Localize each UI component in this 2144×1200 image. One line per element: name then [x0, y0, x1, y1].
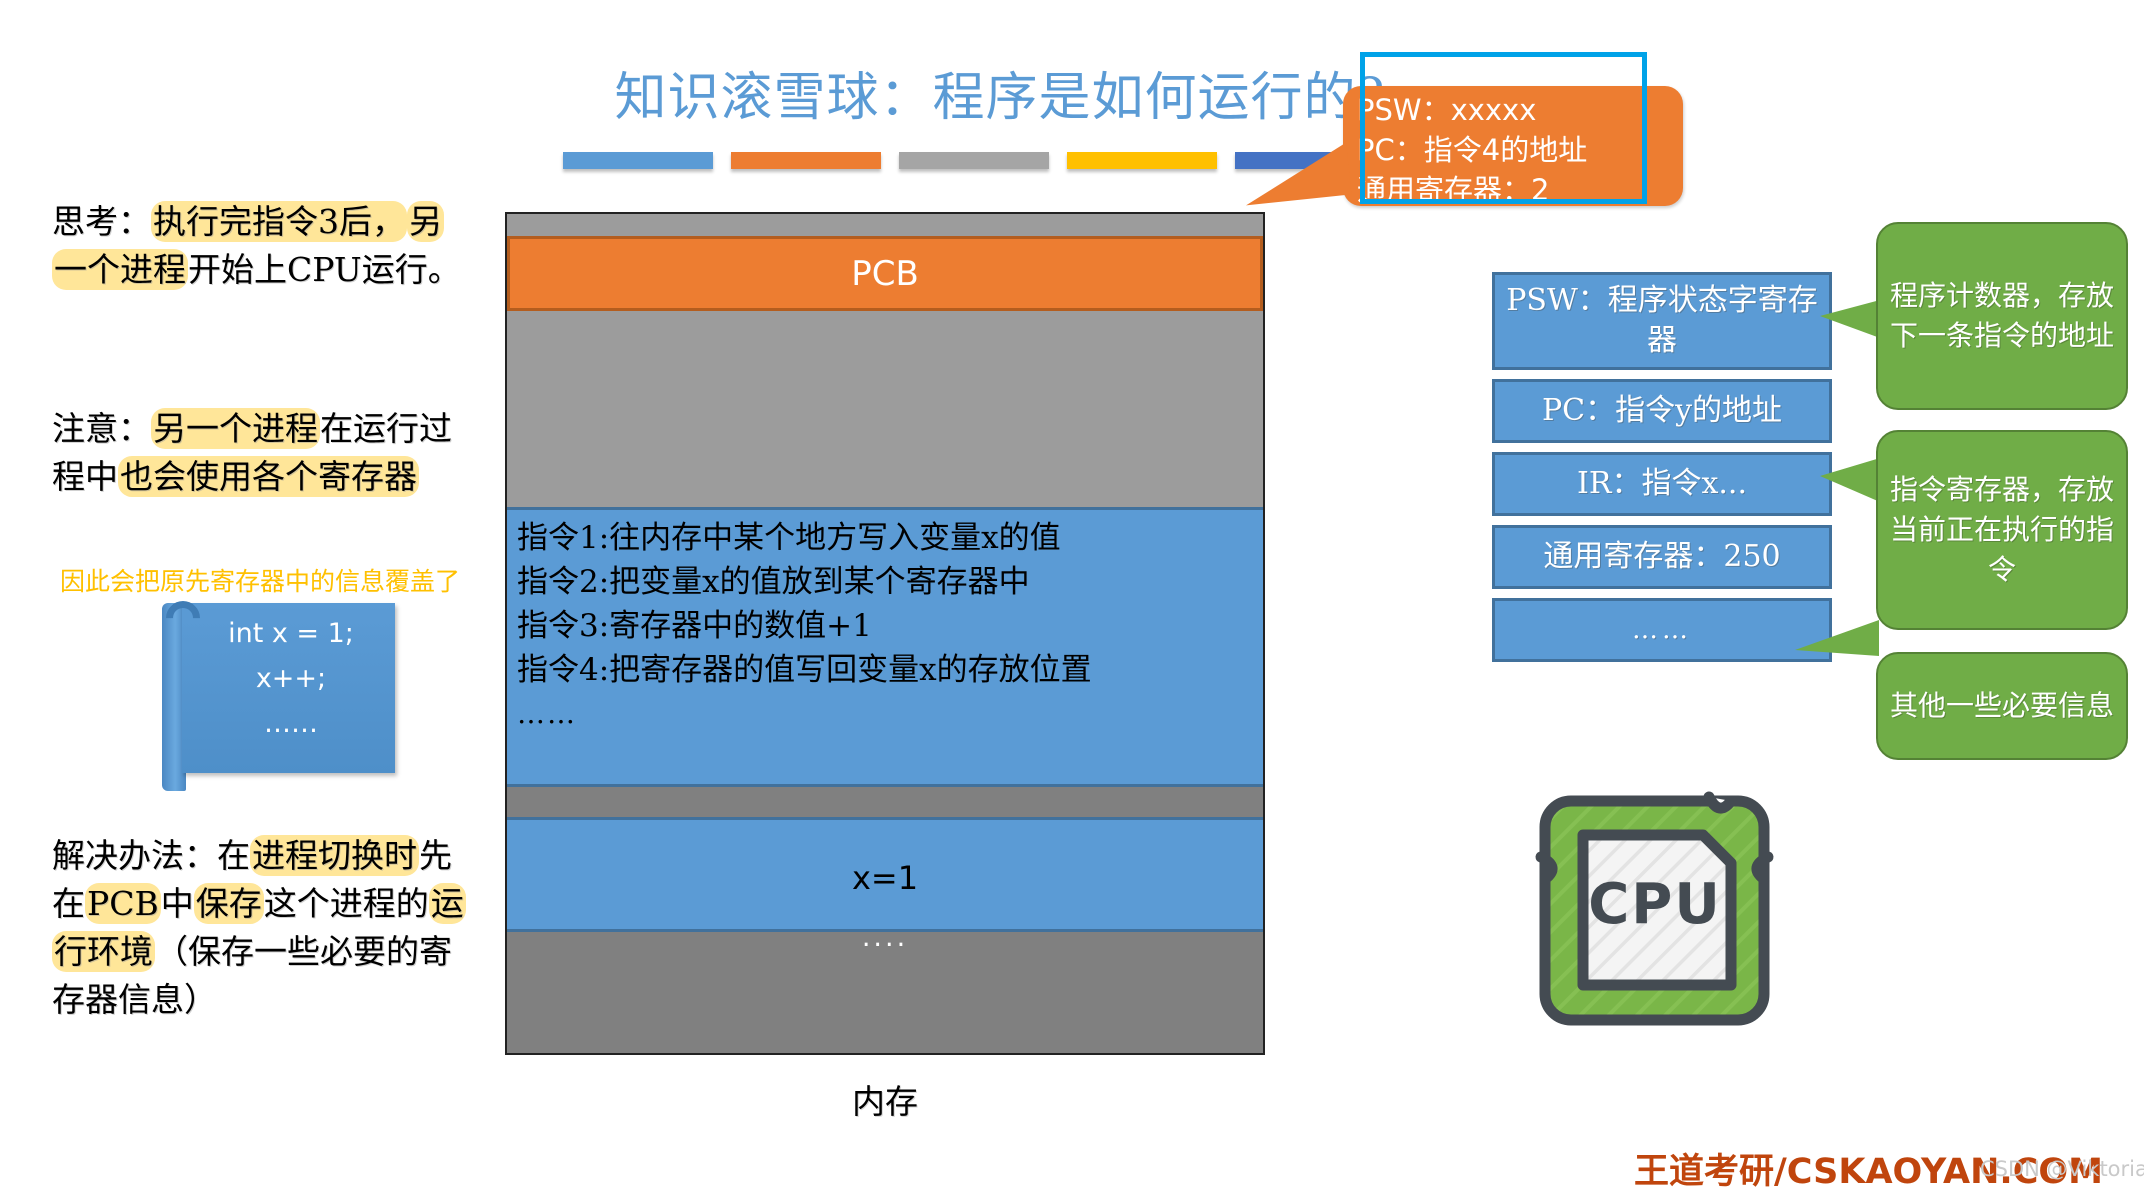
- watermark-text: CSDN @Viktoriae: [1980, 1157, 2144, 1181]
- memory-pcb-block: PCB: [507, 236, 1263, 311]
- green-callout-tail-1-icon: [1820, 300, 1880, 338]
- register-pc: PC：指令y的地址: [1492, 379, 1832, 443]
- solution-plain-1: 在: [217, 836, 250, 875]
- code-line-1: int x = 1;: [190, 611, 392, 656]
- cpu-register-panel: PSW：程序状态字寄存器 PC：指令y的地址 IR：指令x... 通用寄存器：2…: [1492, 272, 1832, 671]
- solution-highlight-3: 保存: [194, 883, 264, 924]
- instruction-line-3: 指令3:寄存器中的数值+1: [517, 604, 1263, 648]
- register-others: ……: [1492, 598, 1832, 662]
- accent-bar-3: [899, 152, 1049, 169]
- accent-bar-4: [1067, 152, 1217, 169]
- think-plain-1: 开始上CPU: [188, 250, 362, 289]
- scroll-code-text: int x = 1; x++; ……: [190, 611, 392, 746]
- solution-plain-4: 这个进程的: [264, 884, 429, 923]
- register-general: 通用寄存器：250: [1492, 525, 1832, 589]
- instruction-ellipsis: ……: [517, 692, 1263, 736]
- memory-data-region: x=1 ....: [507, 817, 1263, 932]
- solution-highlight-1: 进程切换时: [250, 835, 419, 876]
- accent-bar-2: [731, 152, 881, 169]
- orange-note: 因此会把原先寄存器中的信息覆盖了: [60, 562, 460, 598]
- register-others-label: ……: [1632, 610, 1692, 650]
- solution-paragraph: 解决办法：在进程切换时先在PCB中保存这个进程的运行环境（保存一些必要的寄存器信…: [52, 832, 472, 1024]
- solution-highlight-2: PCB: [85, 883, 161, 924]
- green-callout-ir: 指令寄存器，存放当前正在执行的指令: [1876, 430, 2128, 630]
- notice-highlight-2: 也会使用各个寄存器: [118, 456, 419, 497]
- notice-label: 注意：: [52, 409, 151, 448]
- accent-bar-1: [563, 152, 713, 169]
- code-line-2: x++;: [190, 656, 392, 701]
- svg-text:CPU: CPU: [1588, 872, 1722, 937]
- memory-instruction-region: 指令1:往内存中某个地方写入变量x的值 指令2:把变量x的值放到某个寄存器中 指…: [507, 507, 1263, 787]
- cpu-chip-icon: CPU: [1527, 783, 1782, 1038]
- memory-caption: 内存: [505, 1075, 1265, 1123]
- instruction-line-1: 指令1:往内存中某个地方写入变量x的值: [517, 516, 1263, 560]
- solution-plain-3: 中: [161, 884, 194, 923]
- instruction-line-2: 指令2:把变量x的值放到某个寄存器中: [517, 560, 1263, 604]
- callout-tail-icon: [1241, 143, 1352, 206]
- code-scroll-banner: int x = 1; x++; ……: [160, 597, 395, 792]
- memory-data-value: x=1: [852, 859, 918, 897]
- highlight-rectangle: [1360, 52, 1647, 204]
- green-callout-tail-2-icon: [1820, 458, 1880, 502]
- register-psw: PSW：程序状态字寄存器: [1492, 272, 1832, 370]
- memory-free-region-2: [507, 787, 1263, 817]
- think-paragraph: 思考：执行完指令3后，另一个进程开始上CPU运行。: [52, 198, 462, 294]
- think-highlight-1: 执行完指令3后，: [151, 201, 407, 242]
- instruction-line-4: 指令4:把寄存器的值写回变量x的存放位置: [517, 648, 1263, 692]
- think-plain-2: 运行。: [362, 250, 461, 289]
- memory-diagram: PCB 指令1:往内存中某个地方写入变量x的值 指令2:把变量x的值放到某个寄存…: [505, 212, 1265, 1055]
- notice-highlight-1: 另一个进程: [151, 408, 320, 449]
- solution-label: 解决办法：: [52, 836, 217, 875]
- code-line-3: ……: [190, 701, 392, 746]
- green-callout-pc: 程序计数器，存放下一条指令的地址: [1876, 222, 2128, 410]
- green-callout-others: 其他一些必要信息: [1876, 652, 2128, 760]
- slide-canvas: 知识滚雪球：程序是如何运行的? 思考：执行完指令3后，另一个进程开始上CPU运行…: [0, 0, 2144, 1200]
- green-callout-tail-3-icon: [1795, 620, 1879, 656]
- register-ir: IR：指令x...: [1492, 452, 1832, 516]
- memory-free-region-1: [507, 311, 1263, 507]
- memory-top-gap: [507, 214, 1263, 236]
- notice-paragraph: 注意：另一个进程在运行过程中也会使用各个寄存器: [52, 405, 462, 501]
- think-label: 思考：: [52, 202, 151, 241]
